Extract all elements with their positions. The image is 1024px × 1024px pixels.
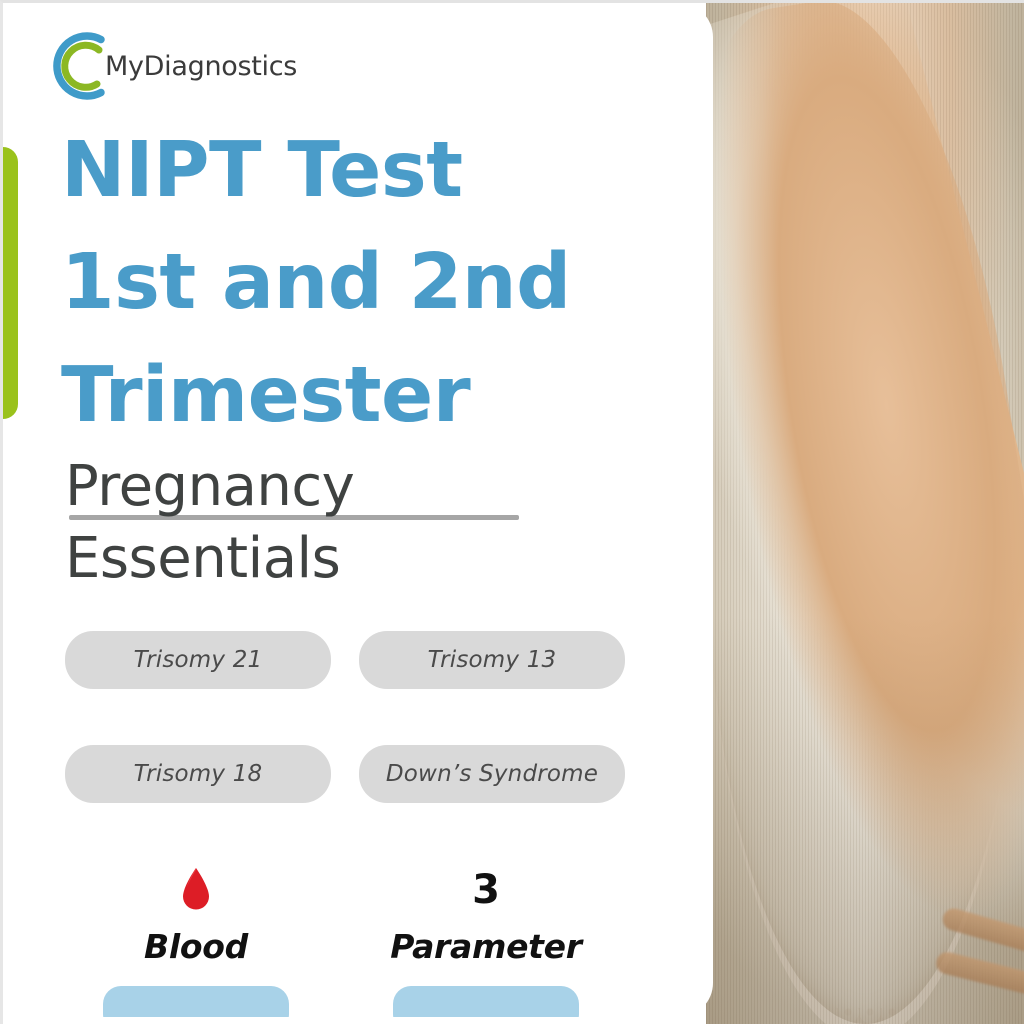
tag-trisomy-13[interactable]: Trisomy 13: [359, 631, 625, 689]
brand-name: MyDiagnostics: [105, 51, 297, 82]
tag-trisomy-21[interactable]: Trisomy 21: [65, 631, 331, 689]
page-title: NIPT Test 1st and 2nd Trimester: [61, 115, 621, 452]
feature-parameter-label: Parameter: [390, 927, 581, 966]
condition-tag-list: Trisomy 21 Trisomy 13 Trisomy 18 Down’s …: [65, 631, 645, 859]
subtitle-line-1: Pregnancy: [65, 451, 645, 523]
blood-drop-icon: [179, 867, 213, 913]
tag-trisomy-18[interactable]: Trisomy 18: [65, 745, 331, 803]
content-card: MyDiagnostics NIPT Test 1st and 2nd Trim…: [3, 3, 713, 1017]
tag-row-1: Trisomy 21 Trisomy 13: [65, 631, 645, 689]
page-subtitle: Pregnancy Essentials: [65, 451, 645, 594]
feature-list: Blood 3 Parameter: [65, 859, 645, 1017]
photo-vignette-layer: [706, 0, 1024, 1024]
tag-row-2: Trisomy 18 Down’s Syndrome: [65, 745, 645, 803]
brand-logo[interactable]: MyDiagnostics: [47, 27, 297, 105]
circular-arc-logo-icon: [47, 30, 119, 102]
subtitle-line-2: Essentials: [65, 523, 645, 595]
feature-parameter: 3 Parameter: [355, 859, 617, 1017]
feature-blood-label: Blood: [144, 927, 248, 966]
title-line-3: Trimester: [61, 340, 621, 452]
hero-photo-pregnant-woman: [706, 0, 1024, 1024]
green-accent-bar: [0, 147, 18, 419]
feature-blood-bar[interactable]: [103, 986, 289, 1017]
promo-card-canvas: MyDiagnostics NIPT Test 1st and 2nd Trim…: [0, 0, 1024, 1024]
blood-drop-icon-wrap: [179, 859, 213, 921]
parameter-count-wrap: 3: [472, 859, 500, 921]
title-line-1: NIPT Test: [61, 115, 621, 227]
feature-blood: Blood: [65, 859, 327, 1017]
title-line-2: 1st and 2nd: [61, 227, 621, 339]
feature-parameter-bar[interactable]: [393, 986, 579, 1017]
feature-parameter-value: 3: [472, 865, 500, 915]
tag-downs-syndrome[interactable]: Down’s Syndrome: [359, 745, 625, 803]
